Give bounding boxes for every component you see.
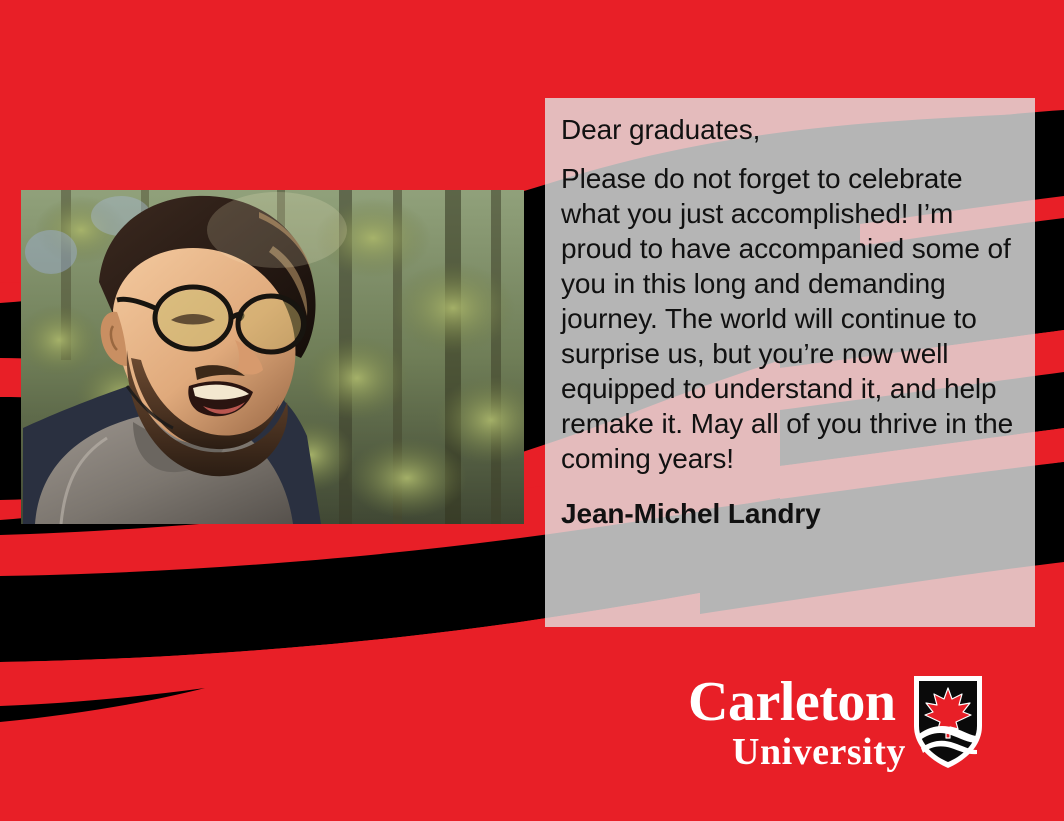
message-body: Please do not forget to celebrate what y… (561, 161, 1019, 476)
portrait-photo-image (21, 190, 524, 524)
carleton-university-logo: Carleton University (688, 668, 988, 774)
message-card: Dear graduates, Please do not forget to … (545, 98, 1035, 627)
logo-wordmark-university: University (732, 731, 906, 773)
logo-wordmark-carleton: Carleton (688, 671, 896, 733)
message-salutation: Dear graduates, (561, 112, 1019, 147)
carleton-logo-svg: Carleton University (688, 668, 988, 774)
message-signature: Jean-Michel Landry (561, 496, 1019, 531)
graduation-message-card-slide: Dear graduates, Please do not forget to … (0, 0, 1064, 821)
carleton-shield-maple-leaf-icon (914, 676, 982, 768)
portrait-photo (21, 190, 524, 524)
